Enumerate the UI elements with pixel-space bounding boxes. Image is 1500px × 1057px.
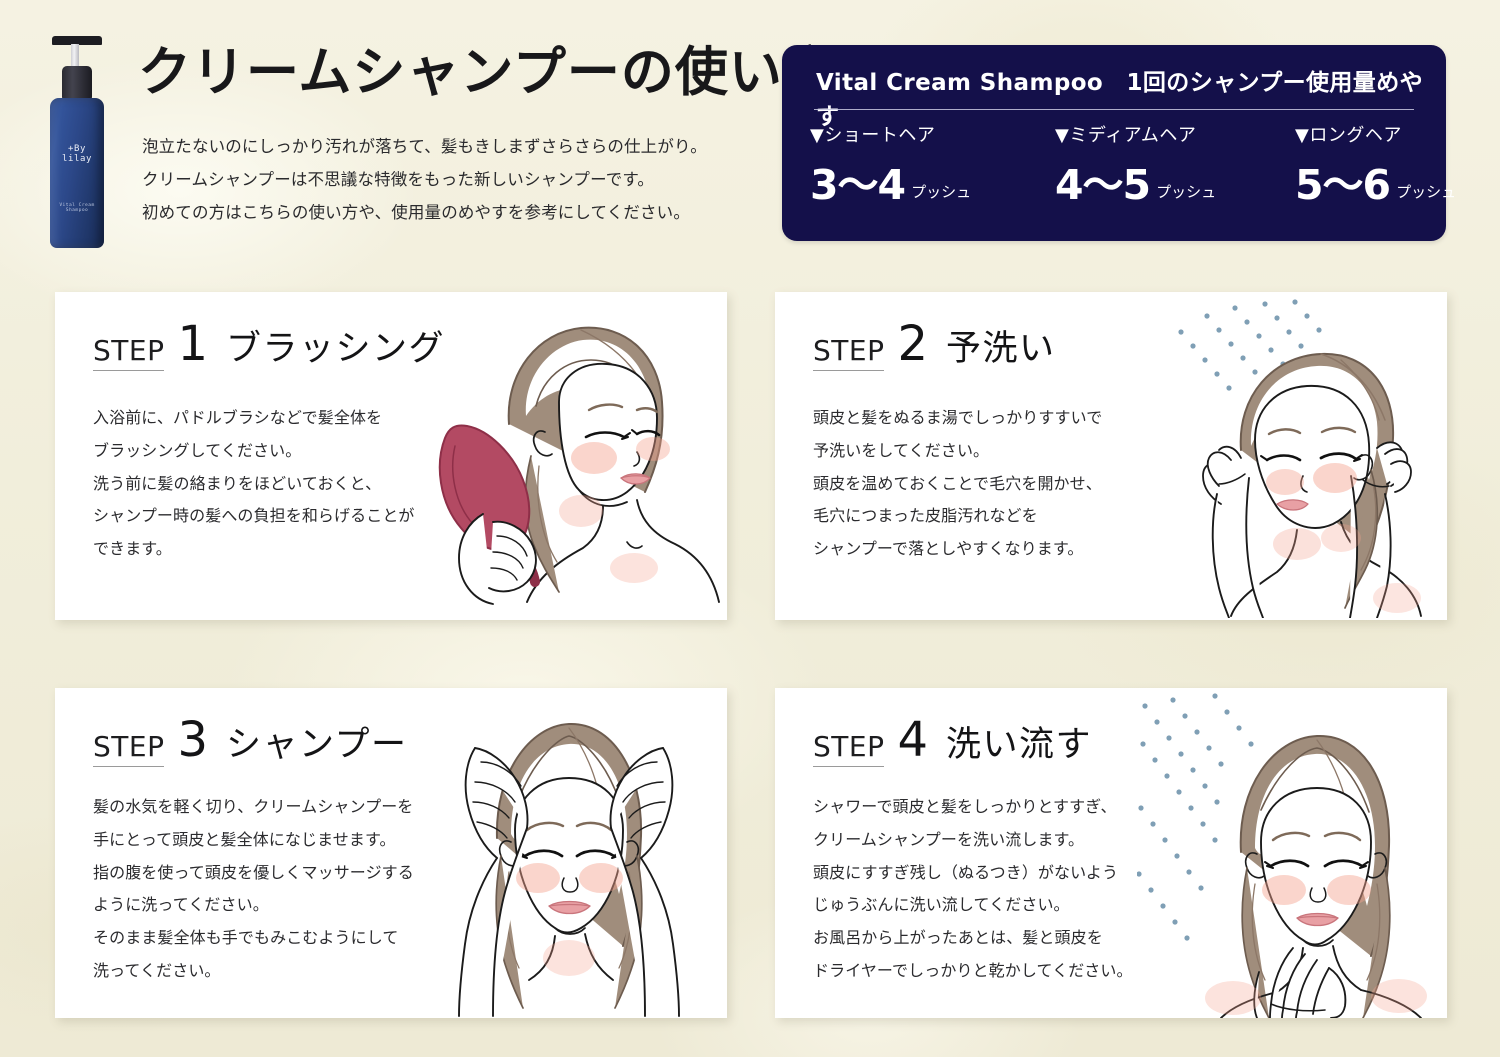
step-card-1: STEP 1 ブラッシング 入浴前に、パドルブラシなどで髪全体を ブラッシングし… bbox=[55, 292, 727, 620]
dosage-label-text: ミディアムヘア bbox=[1069, 125, 1196, 146]
shower-water-dots-icon bbox=[1137, 693, 1254, 940]
illustration-woman-pre-rinsing bbox=[1145, 298, 1445, 618]
bottle-body: +By lilay Vital Cream Shampoo bbox=[50, 98, 104, 248]
step-4-heading: STEP 4 洗い流す bbox=[813, 716, 1092, 767]
step-3-heading: STEP 3 シャンプー bbox=[93, 716, 407, 767]
dosage-item-short-hair: ▼ショートヘア 3〜4プッシュ bbox=[810, 121, 1055, 211]
bottle-product-label: Vital Cream Shampoo bbox=[50, 203, 104, 213]
dosage-label-text: ロングヘア bbox=[1309, 125, 1402, 146]
intro-line-3: 初めての方はこちらの使い方や、使用量のめやすを参考にしてください。 bbox=[142, 196, 707, 229]
step-card-2: STEP 2 予洗い 頭皮と髪をぬるま湯でしっかりすすいで 予洗いをしてください… bbox=[775, 292, 1447, 620]
step-label: STEP bbox=[813, 733, 884, 767]
page-title: クリームシャンプーの使い方 bbox=[138, 44, 837, 102]
step-number: 4 bbox=[897, 716, 928, 764]
step-title: 洗い流す bbox=[946, 728, 1092, 763]
dosage-amount-long-hair: 5〜6プッシュ bbox=[1295, 151, 1456, 211]
dosage-number: 5〜6 bbox=[1295, 161, 1390, 209]
triangle-marker-icon: ▼ bbox=[1055, 125, 1069, 146]
dosage-unit: プッシュ bbox=[911, 183, 971, 201]
dosage-unit: プッシュ bbox=[1396, 183, 1456, 201]
dosage-label-short-hair: ▼ショートヘア bbox=[810, 121, 1055, 147]
illustration-woman-rinsing-off bbox=[1137, 692, 1449, 1018]
step-title: 予洗い bbox=[946, 332, 1056, 367]
dosage-panel-divider bbox=[814, 109, 1414, 110]
step-label: STEP bbox=[813, 337, 884, 371]
triangle-marker-icon: ▼ bbox=[1295, 125, 1309, 146]
step-number: 3 bbox=[177, 716, 208, 764]
intro-line-2: クリームシャンプーは不思議な特徴をもった新しいシャンプーです。 bbox=[142, 163, 707, 196]
bottle-brand-label: +By lilay bbox=[50, 144, 104, 164]
triangle-marker-icon: ▼ bbox=[810, 125, 824, 146]
dosage-item-medium-hair: ▼ミディアムヘア 4〜5プッシュ bbox=[1055, 121, 1295, 211]
dosage-amount-short-hair: 3〜4プッシュ bbox=[810, 151, 1055, 211]
step-1-description: 入浴前に、パドルブラシなどで髪全体を ブラッシングしてください。 洗う前に髪の絡… bbox=[93, 402, 415, 566]
step-2-description: 頭皮と髪をぬるま湯でしっかりすすいで 予洗いをしてください。 頭皮を温めておくこ… bbox=[813, 402, 1102, 566]
dosage-number: 4〜5 bbox=[1055, 161, 1150, 209]
dosage-item-long-hair: ▼ロングヘア 5〜6プッシュ bbox=[1295, 121, 1456, 211]
step-title: ブラッシング bbox=[226, 332, 445, 367]
step-card-4: STEP 4 洗い流す シャワーで頭皮と髪をしっかりとすすぎ、 クリームシャンプ… bbox=[775, 688, 1447, 1018]
step-label: STEP bbox=[93, 337, 164, 371]
step-1-heading: STEP 1 ブラッシング bbox=[93, 320, 445, 371]
intro-paragraph: 泡立たないのにしっかり汚れが落ちて、髪もきしまずさらさらの仕上がり。 クリームシ… bbox=[142, 130, 707, 229]
step-title: シャンプー bbox=[226, 728, 407, 763]
dosage-label-text: ショートヘア bbox=[824, 125, 935, 146]
step-number: 1 bbox=[177, 320, 208, 368]
step-2-heading: STEP 2 予洗い bbox=[813, 320, 1056, 371]
illustration-woman-brushing-hair bbox=[431, 306, 731, 618]
step-3-description: 髪の水気を軽く切り、クリームシャンプーを 手にとって頭皮と髪全体になじませます。… bbox=[93, 791, 414, 988]
illustration-woman-scalp-massage bbox=[419, 706, 719, 1018]
dosage-items-row: ▼ショートヘア 3〜4プッシュ ▼ミディアムヘア 4〜5プッシュ ▼ロングヘア … bbox=[810, 121, 1422, 211]
dosage-number: 3〜4 bbox=[810, 161, 905, 209]
step-4-description: シャワーで頭皮と髪をしっかりとすすぎ、 クリームシャンプーを洗い流します。 頭皮… bbox=[813, 791, 1133, 988]
dosage-guide-panel: Vital Cream Shampoo 1回のシャンプー使用量めやす ▼ショート… bbox=[782, 45, 1446, 241]
shower-water-dots-icon bbox=[1178, 299, 1321, 390]
dosage-label-long-hair: ▼ロングヘア bbox=[1295, 121, 1456, 147]
dosage-unit: プッシュ bbox=[1156, 183, 1216, 201]
bottle-pump-collar-icon bbox=[62, 66, 92, 100]
dosage-label-medium-hair: ▼ミディアムヘア bbox=[1055, 121, 1295, 147]
intro-line-1: 泡立たないのにしっかり汚れが落ちて、髪もきしまずさらさらの仕上がり。 bbox=[142, 130, 707, 163]
step-label: STEP bbox=[93, 733, 164, 767]
step-card-3: STEP 3 シャンプー 髪の水気を軽く切り、クリームシャンプーを 手にとって頭… bbox=[55, 688, 727, 1018]
dosage-amount-medium-hair: 4〜5プッシュ bbox=[1055, 151, 1295, 211]
product-bottle-image: +By lilay Vital Cream Shampoo bbox=[46, 36, 108, 248]
step-number: 2 bbox=[897, 320, 928, 368]
